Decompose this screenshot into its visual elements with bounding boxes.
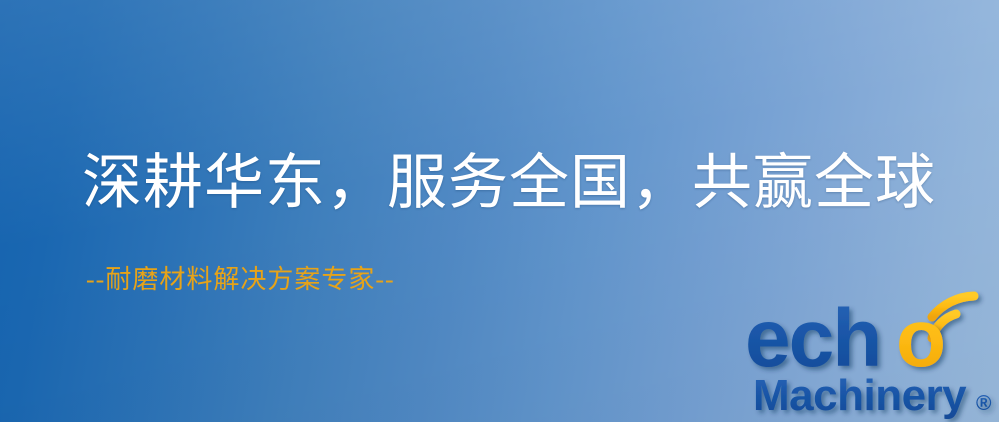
hero-banner: 深耕华东，服务全国，共赢全球 --耐磨材料解决方案专家-- (0, 0, 999, 422)
svg-text:®: ® (976, 392, 992, 415)
svg-text:Machinery: Machinery (753, 371, 967, 420)
brand-logo[interactable]: ech o Machinery ® (742, 288, 998, 422)
page-title: 深耕华东，服务全国，共赢全球 (82, 152, 936, 215)
page-subtitle: --耐磨材料解决方案专家-- (86, 266, 395, 295)
logo-tagline: Machinery ® (753, 371, 992, 420)
